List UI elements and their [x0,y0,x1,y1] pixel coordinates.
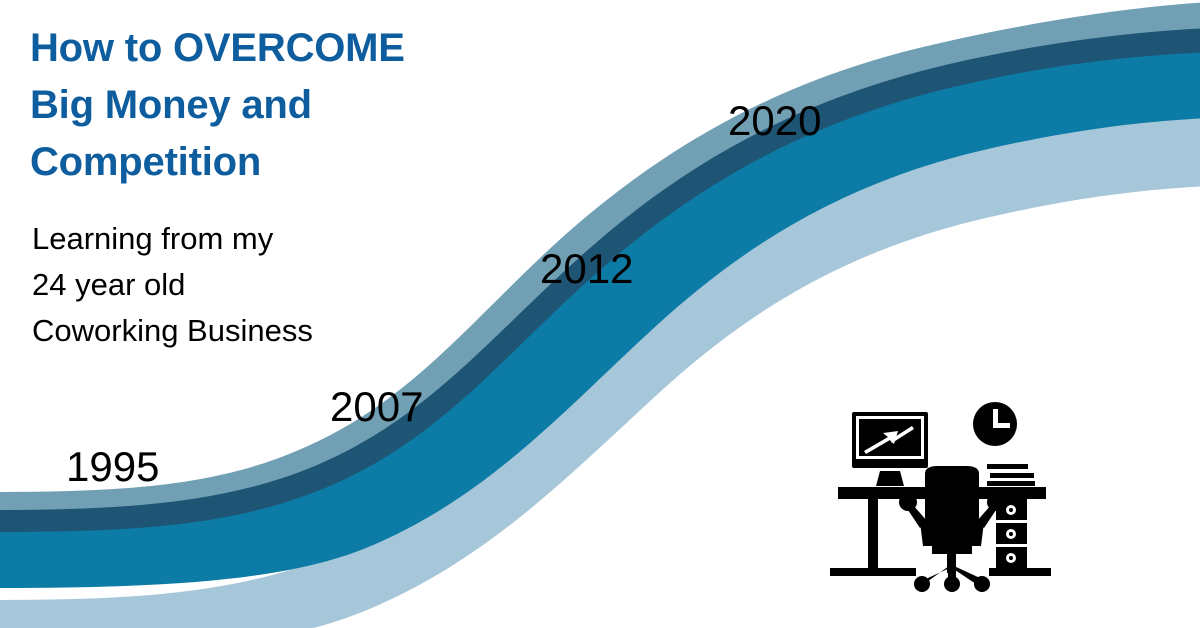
office-chair-arm-knob-right [987,493,1005,511]
timeline-year-2020: 2020 [728,100,821,142]
file-cabinet-base [989,568,1051,576]
file-cabinet-handle-2-dot [1009,532,1013,536]
file-cabinet-divider-2 [996,544,1027,547]
desk-leg [868,499,878,568]
monitor-stand [876,471,904,486]
subhead-line-1: Learning from my [32,216,452,262]
office-chair-caster-right [974,576,990,592]
timeline-year-2007: 2007 [330,386,423,428]
file-cabinet-divider-1 [996,520,1027,523]
promo-banner: How to OVERCOME Big Money and Competitio… [0,0,1200,628]
office-chair-seat [920,522,984,546]
subhead-line-2: 24 year old [32,262,452,308]
office-chair-caster-left [914,576,930,592]
headline-line-1: How to OVERCOME [30,20,550,77]
office-chair-seat-lip [932,546,972,554]
paper-stack-line-3 [987,481,1035,486]
paper-stack-line-2 [990,473,1034,478]
file-cabinet-handle-1-dot [1009,508,1013,512]
office-chair-back [925,466,979,527]
subhead-line-3: Coworking Business [32,308,452,354]
headline-line-2: Big Money and [30,77,550,134]
timeline-year-1995: 1995 [66,446,159,488]
office-chair-caster-center [944,576,960,592]
desk-foot [830,568,916,576]
file-cabinet-handle-3-dot [1009,556,1013,560]
paper-stack-line-1 [987,464,1028,469]
page-subtitle: Learning from my 24 year old Coworking B… [32,216,452,354]
office-chair-arm-knob-left [899,493,917,511]
timeline-year-2012: 2012 [540,248,633,290]
headline-line-3: Competition [30,134,550,191]
page-title: How to OVERCOME Big Money and Competitio… [30,20,550,191]
workspace-icon [820,388,1070,593]
